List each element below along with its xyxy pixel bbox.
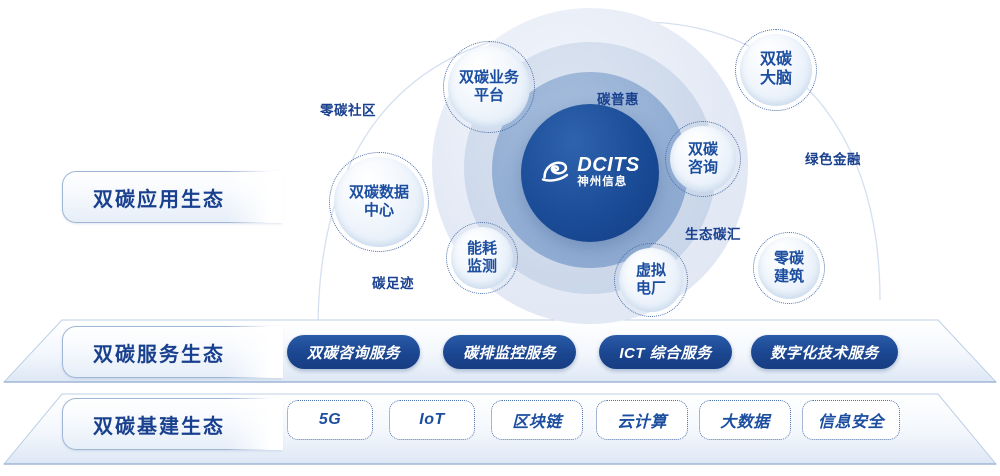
tier-label-service: 双碳服务生态 [62,326,282,378]
keyword-carbon-footprint: 碳足迹 [372,272,414,292]
bubble-line2: 平台 [474,87,504,104]
infra-chip-iot[interactable]: IoT [389,400,475,440]
logo-wordmark: DCITS [577,155,640,175]
bubble-line1: 双碳 [688,141,718,158]
tier-label-text: 双碳服务生态 [93,338,225,367]
bubble-line2: 大脑 [760,70,792,87]
tier-label-text: 双碳基建生态 [93,410,225,439]
bubble-line1: 虚拟 [636,262,666,279]
service-pill-emission-monitoring[interactable]: 碳排监控服务 [443,335,576,369]
infra-chip-blockchain[interactable]: 区块链 [491,400,583,440]
bubble-data-center[interactable]: 双碳数据中心 [329,152,429,252]
keyword-zero-carbon-community: 零碳社区 [320,99,376,119]
tier-label-text: 双碳应用生态 [93,183,225,212]
bubble-line2: 建筑 [774,268,804,285]
bubble-line1: 双碳 [760,51,792,68]
bubble-line1: 双碳数据 [349,184,409,201]
dcits-swoosh-icon [540,157,570,187]
tier-label-application: 双碳应用生态 [62,171,282,223]
logo-subtitle: 神州信息 [577,177,640,189]
bubble-line2: 咨询 [688,159,718,176]
bubble-line2: 监测 [467,258,497,275]
keyword-carbon-inclusion: 碳普惠 [597,88,639,108]
service-pill-digital-tech[interactable]: 数字化技术服务 [751,335,898,369]
keyword-green-finance: 绿色金融 [805,148,861,168]
bubble-virtual-plant[interactable]: 虚拟电厂 [614,243,688,317]
bubble-zero-carbon-building[interactable]: 零碳建筑 [753,232,825,304]
ecosystem-diagram: DCITS 神州信息 双碳业务平台 双碳大脑 双碳数据中心 双碳咨询 能耗监测 … [0,0,1000,476]
bubble-brain[interactable]: 双碳大脑 [735,29,817,111]
infra-chip-cloud[interactable]: 云计算 [596,400,688,440]
bubble-line1: 零碳 [774,250,804,267]
bubble-consulting[interactable]: 双碳咨询 [665,121,741,197]
infra-chip-big-data[interactable]: 大数据 [699,400,791,440]
service-pill-ict-integrated[interactable]: ICT 综合服务 [599,335,732,369]
dcits-logo: DCITS 神州信息 [540,155,640,189]
tier-label-infra: 双碳基建生态 [62,398,282,450]
ring-core-brand: DCITS 神州信息 [521,104,659,242]
bubble-line2: 电厂 [636,280,666,297]
bubble-line1: 双碳业务 [459,69,519,86]
infra-chip-info-sec[interactable]: 信息安全 [802,400,900,440]
bubble-business-platform[interactable]: 双碳业务平台 [443,41,535,133]
bubble-energy-monitor[interactable]: 能耗监测 [446,222,518,294]
bubble-line2: 中心 [364,202,394,219]
service-pill-consulting-service[interactable]: 双碳咨询服务 [287,335,420,369]
keyword-eco-carbon-sink: 生态碳汇 [685,223,741,243]
infra-chip-5g[interactable]: 5G [287,400,373,440]
bubble-line1: 能耗 [467,240,497,257]
